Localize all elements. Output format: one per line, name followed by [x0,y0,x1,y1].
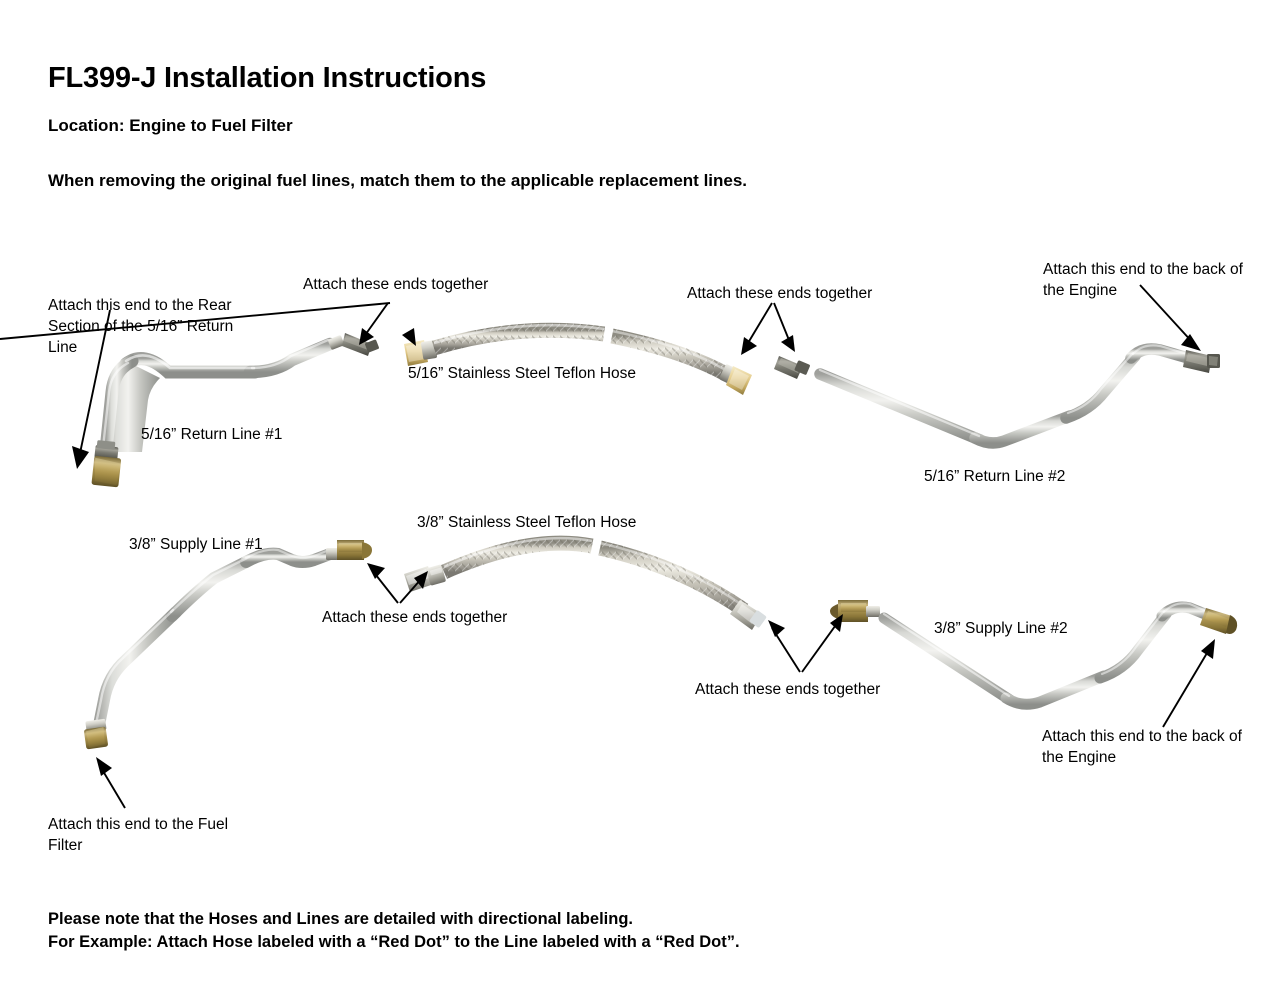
brass-fitting-supply-2-left [830,600,880,622]
callout-attach-return-right: Attach these ends together [687,283,927,304]
brass-fitting-supply-2-right [1200,608,1237,634]
footer-note-line-2: For Example: Attach Hose labeled with a … [48,933,740,952]
steel-ferrule-hose-38-left [404,564,446,592]
steel-ferrule-hose-38-right [730,600,767,630]
label-return-line-1: 5/16” Return Line #1 [141,426,282,444]
gold-ferrule-hose-516-left [404,340,437,366]
gold-ferrule-hose-516-right [719,364,752,395]
brass-fitting-supply-1-right [326,540,372,560]
callout-attach-supply-left: Attach these ends together [322,607,562,628]
steel-fitting-return-1-right [328,333,380,356]
callout-supply-line-2-right: Attach this end to the back of the Engin… [1042,726,1266,768]
arrow-supply-1-left [96,757,125,808]
callout-return-line-1-left: Attach this end to the Rear Section of t… [48,295,258,358]
label-return-hose: 5/16” Stainless Steel Teflon Hose [408,365,636,383]
brass-fitting-supply-1-left [84,719,109,750]
callout-attach-supply-right: Attach these ends together [695,679,935,700]
label-supply-line-2: 3/8” Supply Line #2 [934,620,1068,638]
location-subtitle: Location: Engine to Fuel Filter [48,116,293,136]
callout-attach-return-left: Attach these ends together [303,274,543,295]
supply-line-1-tube [84,540,372,749]
callout-return-line-2-right: Attach this end to the back of the Engin… [1043,259,1265,301]
steel-fitting-return-2-left [774,356,810,379]
arrow-attach-return-right [741,303,795,355]
label-return-line-2: 5/16” Return Line #2 [924,468,1065,486]
return-hose-516 [404,325,752,395]
instruction-text: When removing the original fuel lines, m… [48,171,747,191]
arrow-attach-supply-right [768,614,843,672]
installation-instructions-page: FL399-J Installation Instructions Locati… [0,0,1280,989]
steel-fitting-return-2-right [1183,350,1220,373]
label-supply-line-1: 3/8” Supply Line #1 [129,536,263,554]
page-title: FL399-J Installation Instructions [48,62,486,95]
footer-note-line-1: Please note that the Hoses and Lines are… [48,910,633,929]
brass-fitting-return-1-left [91,440,121,487]
arrow-supply-2-right [1163,639,1215,727]
arrow-attach-supply-left [367,563,428,603]
return-line-2-tube [774,345,1220,443]
callout-supply-line-1-left: Attach this end to the Fuel Filter [48,814,248,856]
label-supply-hose: 3/8” Stainless Steel Teflon Hose [417,514,636,532]
